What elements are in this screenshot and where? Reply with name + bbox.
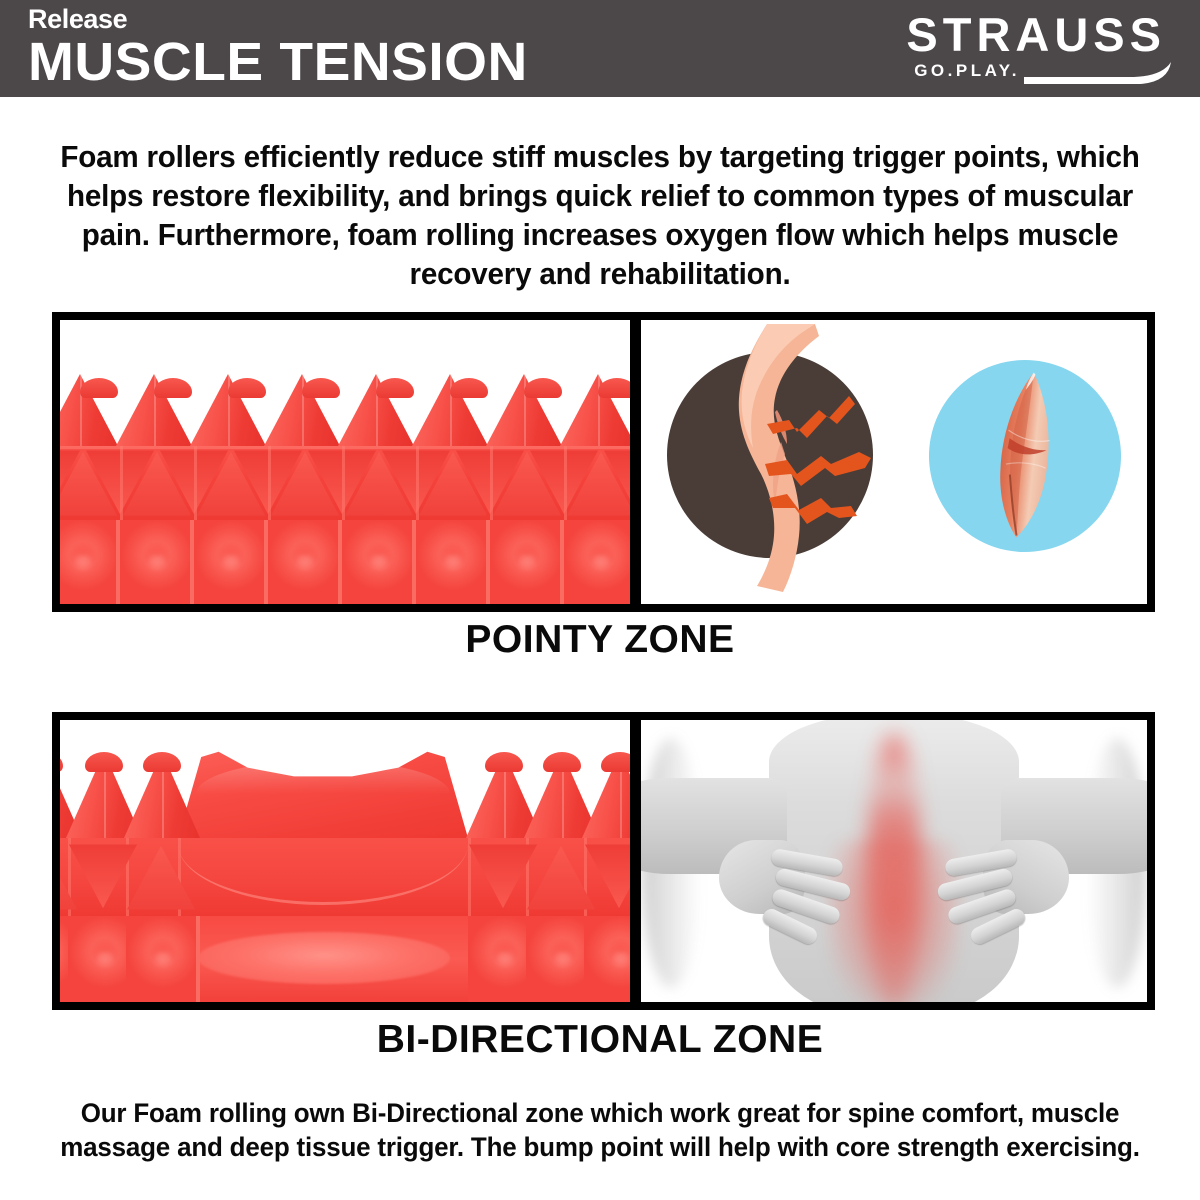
bidirectional-media-cell — [641, 720, 1147, 1002]
lower-back-pain-photo — [641, 720, 1147, 1002]
swoosh-icon — [1022, 60, 1172, 86]
roller-dimple-cell — [60, 520, 120, 604]
roller-spike-cap — [85, 752, 123, 772]
hand-left — [719, 840, 851, 950]
roller-seam — [60, 446, 630, 449]
roller-spike-cap — [302, 378, 340, 398]
roller-seam — [268, 446, 271, 520]
brand-tagline: GO.PLAY. — [914, 62, 1020, 80]
bidirectional-zone-label: BI-DIRECTIONAL ZONE — [0, 1018, 1200, 1062]
bidir-crest — [60, 750, 630, 838]
pointy-lattice-band — [60, 446, 630, 520]
bidir-roller-stage — [60, 720, 630, 1002]
leg-pain-illustration — [667, 352, 873, 558]
bidir-bottom-band — [60, 916, 630, 1002]
roller-dimple-cell — [564, 520, 630, 604]
roller-dimple-cell — [416, 520, 490, 604]
footer-paragraph: Our Foam rolling own Bi-Directional zone… — [30, 1096, 1171, 1164]
roller-spike-cap — [524, 378, 562, 398]
roller-seam — [194, 446, 197, 520]
roller-seam — [416, 446, 419, 520]
pointy-zone-panel — [52, 312, 1155, 612]
bidir-arc-line — [178, 844, 468, 905]
pointy-illustrations — [641, 320, 1147, 604]
pointy-roller-stage — [60, 320, 630, 604]
pointy-dimple-band — [60, 520, 630, 604]
pointy-spike-crest — [60, 374, 630, 446]
pointy-roller-body — [60, 374, 630, 604]
roller-spike-cap — [601, 752, 630, 772]
pointy-zone-label: POINTY ZONE — [0, 618, 1200, 662]
pointy-roller-image — [60, 320, 630, 604]
roller-dimple-cell — [342, 520, 416, 604]
roller-spike-cap — [598, 378, 630, 398]
roller-spike-cap — [543, 752, 581, 772]
roller-seam — [120, 446, 123, 520]
muscle-icon — [985, 367, 1064, 543]
panel-divider — [630, 712, 641, 1010]
bidir-mid-band — [60, 838, 630, 916]
brand-name: STRAUSS — [906, 10, 1166, 60]
bidirectional-zone-panel — [52, 712, 1155, 1010]
roller-dimple-cell — [268, 520, 342, 604]
page-title: MUSCLE TENSION — [28, 34, 528, 90]
roller-spike-cap — [228, 378, 266, 398]
header-eyebrow: Release — [28, 4, 518, 34]
bidir-roller-body — [60, 750, 630, 1002]
intro-paragraph: Foam rollers efficiently reduce stiff mu… — [39, 138, 1160, 294]
roller-spike-cap — [376, 378, 414, 398]
bidir-lozenge — [198, 932, 450, 984]
roller-dimple-cell — [194, 520, 268, 604]
hand-right — [937, 840, 1069, 950]
roller-spike-cap — [450, 378, 488, 398]
roller-seam — [490, 446, 493, 520]
roller-spike-cap — [80, 378, 118, 398]
brand-logo: STRAUSS GO.PLAY. — [752, 10, 1172, 88]
roller-spike-cap — [485, 752, 523, 772]
panel-divider — [630, 312, 641, 612]
roller-dimple-cell — [120, 520, 194, 604]
roller-dimple-cell — [584, 916, 630, 1002]
bidirectional-roller-image — [60, 720, 630, 1002]
roller-spike-cap — [143, 752, 181, 772]
roller-spike-cap — [154, 378, 192, 398]
header-bar: Release MUSCLE TENSION STRAUSS GO.PLAY. — [0, 0, 1200, 97]
roller-dimple-cell — [126, 916, 200, 1002]
header-title-block: Release MUSCLE TENSION — [28, 4, 518, 90]
muscle-fiber-illustration — [929, 360, 1121, 552]
roller-seam — [468, 838, 471, 916]
roller-dimple-cell — [490, 520, 564, 604]
roller-seam — [342, 446, 345, 520]
roller-spike-cap — [60, 752, 63, 772]
pain-waves-icon — [763, 390, 889, 530]
pointy-media-cell — [641, 320, 1147, 604]
roller-seam — [564, 446, 567, 520]
